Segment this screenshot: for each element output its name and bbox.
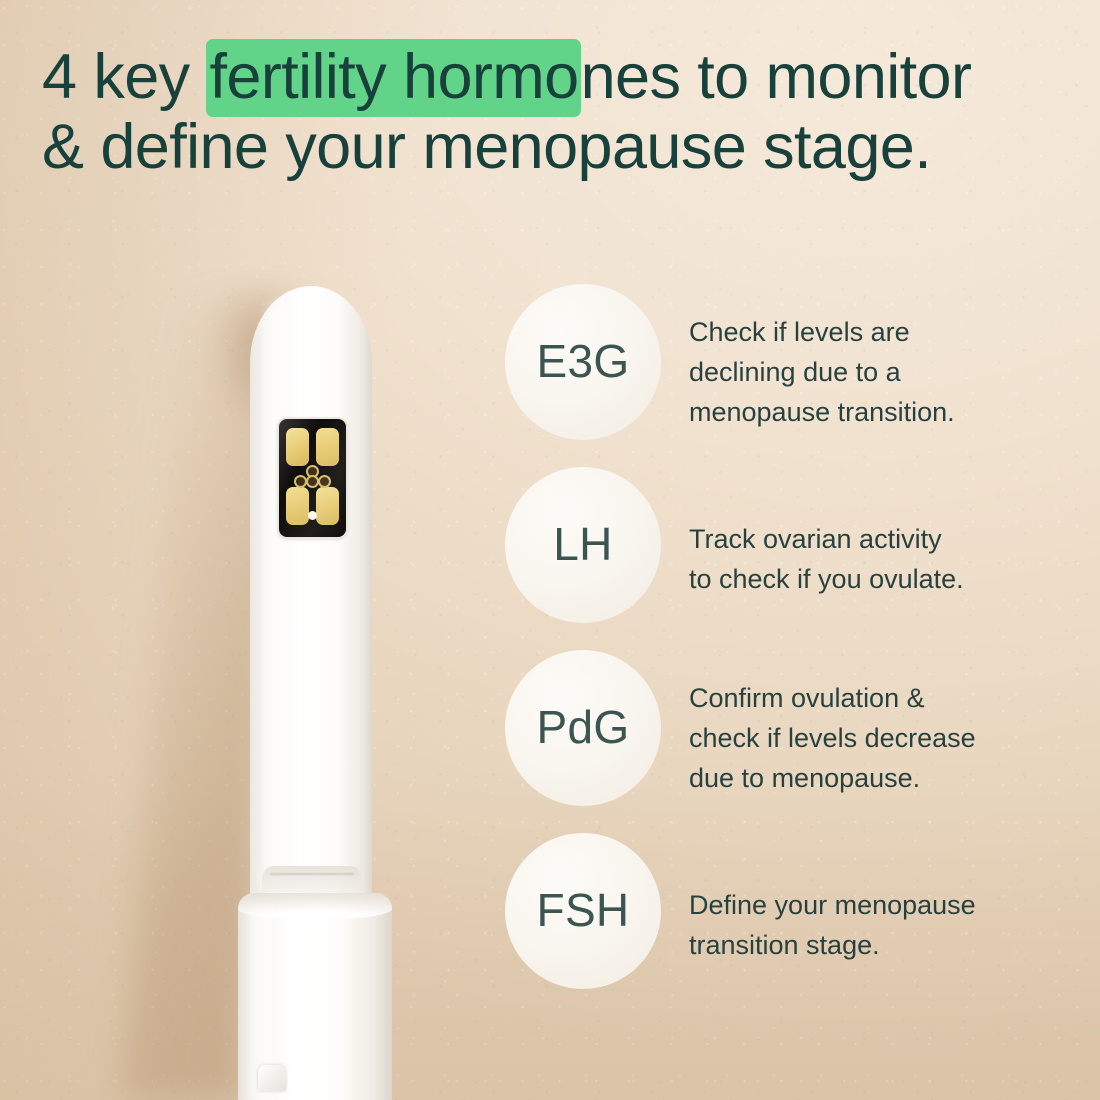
sensor-gold-pad [286,428,309,466]
list-item: FSH Define your menopause transition sta… [505,833,1065,1016]
hormone-test-device [0,0,470,1100]
hormone-abbr: PdG [537,704,630,750]
list-item: LH Track ovarian activity to check if yo… [505,467,1065,650]
hormone-badge-fsh: FSH [505,833,661,989]
sensor-alignment-dot [308,511,317,520]
hormone-description: Check if levels are declining due to a m… [689,312,1061,432]
hormone-description: Define your menopause transition stage. [689,885,1061,965]
poster-canvas: 4 key fertility hormones to monitor & de… [0,0,1100,1100]
hormone-list: E3G Check if levels are declining due to… [505,284,1065,1016]
device-seam-line [270,873,354,875]
hormone-badge-pdg: PdG [505,650,661,806]
sensor-contact-via [320,477,329,486]
hormone-badge-e3g: E3G [505,284,661,440]
sensor-gold-pad [316,428,339,466]
sensor-contact-via [308,477,317,486]
sensor-gold-pad [286,487,309,525]
list-item: PdG Confirm ovulation & check if levels … [505,650,1065,833]
list-item: E3G Check if levels are declining due to… [505,284,1065,467]
hormone-description: Track ovarian activity to check if you o… [689,519,1061,599]
device-stick-highlight [268,300,296,900]
device-side-tab [258,1065,286,1091]
hormone-abbr: E3G [537,338,630,384]
sensor-contact-via [308,467,317,476]
sensor-chip [279,419,346,537]
hormone-abbr: LH [553,521,612,567]
headline-segment-plain-2: nes to monitor [581,42,972,112]
sensor-contact-via [296,477,305,486]
hormone-description: Confirm ovulation & check if levels decr… [689,678,1061,798]
sensor-gold-pad [316,487,339,525]
hormone-abbr: FSH [537,887,630,933]
hormone-badge-lh: LH [505,467,661,623]
